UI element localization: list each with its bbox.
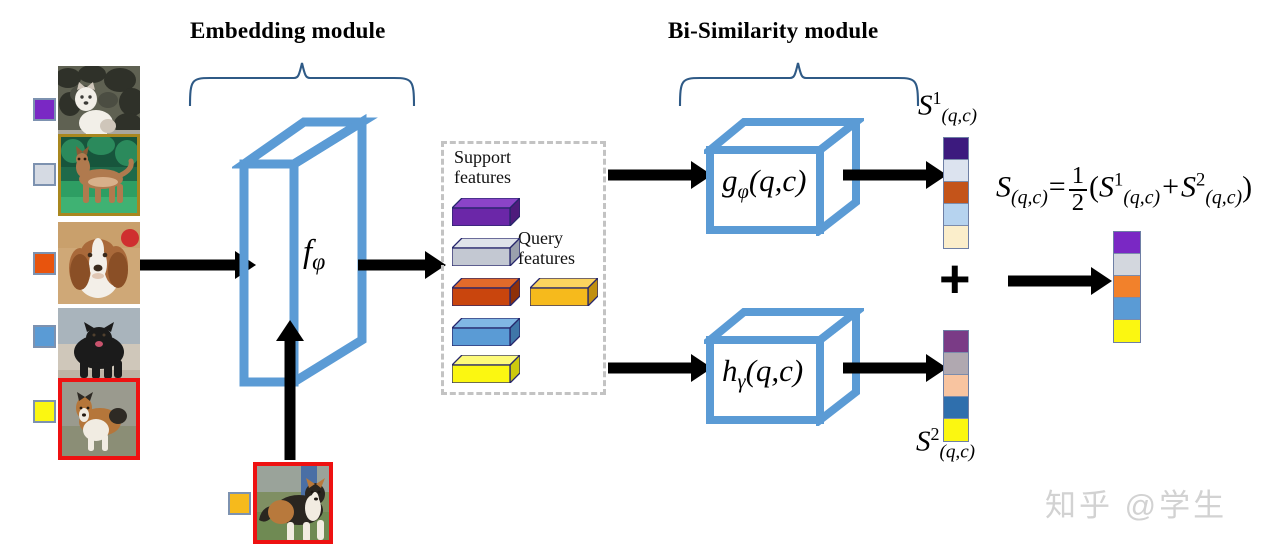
g-function-base: g [722, 163, 738, 198]
query-features-label-line2: features [518, 248, 575, 268]
support-features-label-line1: Support [454, 147, 511, 167]
support-swatch-1 [33, 98, 56, 121]
formula-term2-sup: 2 [1196, 169, 1205, 190]
formula-fraction-denominator: 2 [1069, 189, 1087, 216]
h-function-sub: γ [738, 371, 746, 393]
s1-label-sub: (q,c) [941, 105, 977, 126]
s1-cell-3 [944, 182, 968, 204]
query-feature-bar-1 [530, 278, 598, 306]
s1-cell-5 [944, 226, 968, 248]
formula-fraction-numerator: 1 [1069, 164, 1087, 189]
s1-cell-4 [944, 204, 968, 226]
s2-cell-3 [944, 375, 968, 397]
support-image-5[interactable] [58, 378, 140, 460]
final-cell-1 [1114, 232, 1140, 254]
embedding-function-base: f [303, 234, 312, 270]
support-swatch-5 [33, 400, 56, 423]
final-similarity-vector [1113, 231, 1141, 343]
support-swatch-4 [33, 325, 56, 348]
final-cell-3 [1114, 276, 1140, 298]
bi-similarity-module-title: Bi-Similarity module [668, 18, 878, 44]
support-swatch-3 [33, 252, 56, 275]
formula-equals: = [1048, 170, 1067, 203]
bi-similarity-module-brace [676, 58, 922, 108]
formula-close-paren: ) [1242, 170, 1252, 203]
formula-term1-sub: (q,c) [1123, 186, 1160, 208]
support-features-label-line2: features [454, 167, 511, 187]
s1-cell-2 [944, 160, 968, 182]
formula-lhs-sub: (q,c) [1011, 186, 1048, 208]
query-features-label: Query features [518, 228, 575, 268]
support-feature-bar-4 [452, 318, 520, 346]
formula-term2-base: S [1181, 170, 1196, 203]
s2-label-sub: (q,c) [939, 441, 975, 462]
g-function-args: (q,c) [749, 163, 807, 198]
formula-lhs-base: S [996, 170, 1011, 203]
s2-label-base: S [916, 426, 931, 458]
s2-cell-4 [944, 397, 968, 419]
formula-fraction: 12 [1069, 164, 1087, 215]
s1-label: S1(q,c) [918, 88, 977, 127]
support-feature-bar-2 [452, 238, 520, 266]
support-feature-bar-1 [452, 198, 520, 226]
s1-label-base: S [918, 90, 933, 122]
support-image-3 [58, 222, 140, 304]
formula-term2-sub: (q,c) [1205, 186, 1242, 208]
final-cell-2 [1114, 254, 1140, 276]
h-function-label: hγ(q,c) [722, 353, 803, 394]
h-function-args: (q,c) [746, 353, 804, 388]
final-cell-5 [1114, 320, 1140, 342]
s1-vector [943, 137, 969, 249]
query-image-1[interactable] [253, 462, 333, 544]
support-swatch-2 [33, 163, 56, 186]
g-function-label: gφ(q,c) [722, 163, 806, 204]
final-cell-4 [1114, 298, 1140, 320]
formula-term1-sup: 1 [1114, 169, 1123, 190]
g-function-sub: φ [738, 181, 749, 203]
s2-cell-1 [944, 331, 968, 353]
formula-term1-base: S [1099, 170, 1114, 203]
watermark: 知乎 @学生 [1045, 480, 1227, 525]
query-features-label-line1: Query [518, 228, 575, 248]
h-function-base: h [722, 353, 738, 388]
embedding-function-sub: φ [312, 250, 325, 276]
plus-operator: + [939, 252, 971, 306]
embedding-module-title: Embedding module [190, 18, 386, 44]
embedding-function-label: fφ [303, 234, 325, 277]
formula-open-paren: ( [1089, 170, 1099, 203]
s1-cell-1 [944, 138, 968, 160]
s2-cell-2 [944, 353, 968, 375]
formula-operator: + [1160, 170, 1181, 203]
support-feature-bar-3 [452, 278, 520, 306]
diagram-canvas: Embedding module Bi-Similarity module [0, 0, 1262, 560]
query-swatch-1 [228, 492, 251, 515]
embedding-module-brace [186, 58, 418, 108]
support-image-2 [58, 134, 140, 216]
support-features-label: Support features [454, 147, 511, 187]
similarity-formula: S(q,c)=12(S1(q,c)+S2(q,c)) [996, 164, 1252, 215]
support-feature-bar-5 [452, 355, 520, 383]
s2-label: S2(q,c) [916, 424, 975, 463]
